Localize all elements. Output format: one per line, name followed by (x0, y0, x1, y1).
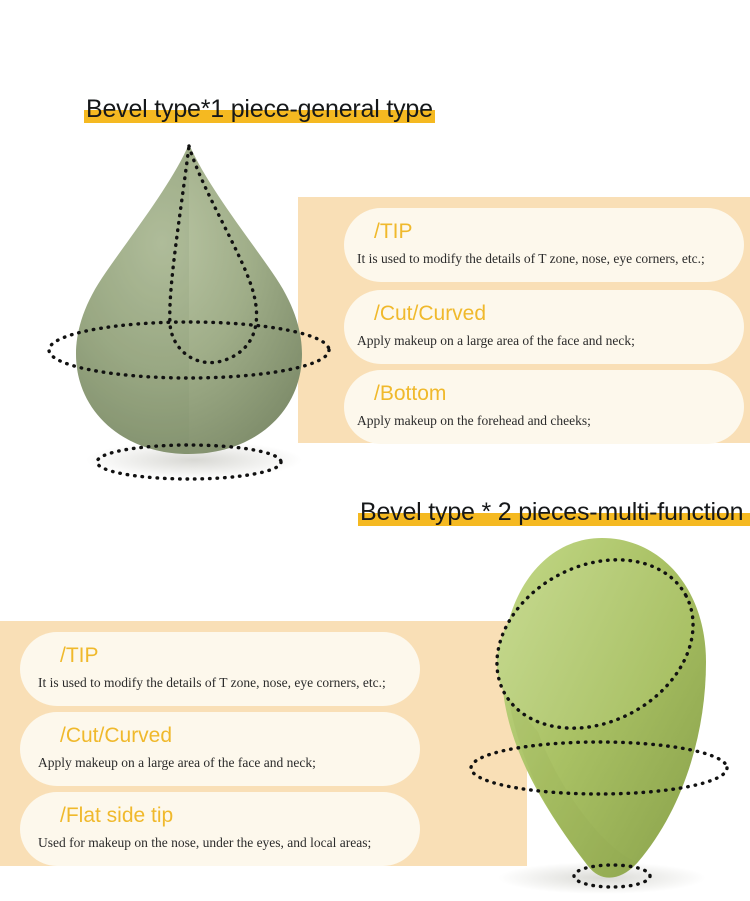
section-title-one-text: Bevel type*1 piece-general type (84, 94, 435, 124)
info-card-heading: /Cut/Curved (374, 302, 486, 326)
info-card-heading: /TIP (60, 644, 99, 668)
section-title-one: Bevel type*1 piece-general type (84, 94, 435, 124)
info-card-heading: /Bottom (374, 382, 446, 406)
sponge-left-shading (76, 144, 189, 454)
info-card-heading: /Flat side tip (60, 804, 173, 828)
bevel-cut-egg-sponge-illustration (452, 536, 750, 901)
section-title-two-text: Bevel type * 2 pieces-multi-function (358, 497, 745, 527)
info-card-body: Apply makeup on a large area of the face… (38, 754, 316, 771)
info-card-flat-side-tip-bottom: /Flat side tip Used for makeup on the no… (20, 792, 420, 866)
info-card-body: Used for makeup on the nose, under the e… (38, 834, 371, 851)
teardrop-sponge-illustration (44, 138, 334, 483)
info-card-bottom-top: /Bottom Apply makeup on the forehead and… (344, 370, 744, 444)
info-card-tip-bottom: /TIP It is used to modify the details of… (20, 632, 420, 706)
info-card-body: Apply makeup on a large area of the face… (357, 332, 635, 349)
info-card-heading: /Cut/Curved (60, 724, 172, 748)
info-card-body: It is used to modify the details of T zo… (38, 674, 386, 691)
section-title-two: Bevel type * 2 pieces-multi-function (358, 497, 745, 527)
info-card-body: Apply makeup on the forehead and cheeks; (357, 412, 591, 429)
info-card-cut-curved-bottom: /Cut/Curved Apply makeup on a large area… (20, 712, 420, 786)
info-card-cut-curved-top: /Cut/Curved Apply makeup on a large area… (344, 290, 744, 364)
info-card-body: It is used to modify the details of T zo… (357, 250, 705, 267)
info-card-heading: /TIP (374, 220, 413, 244)
info-card-tip-top: /TIP It is used to modify the details of… (344, 208, 744, 282)
